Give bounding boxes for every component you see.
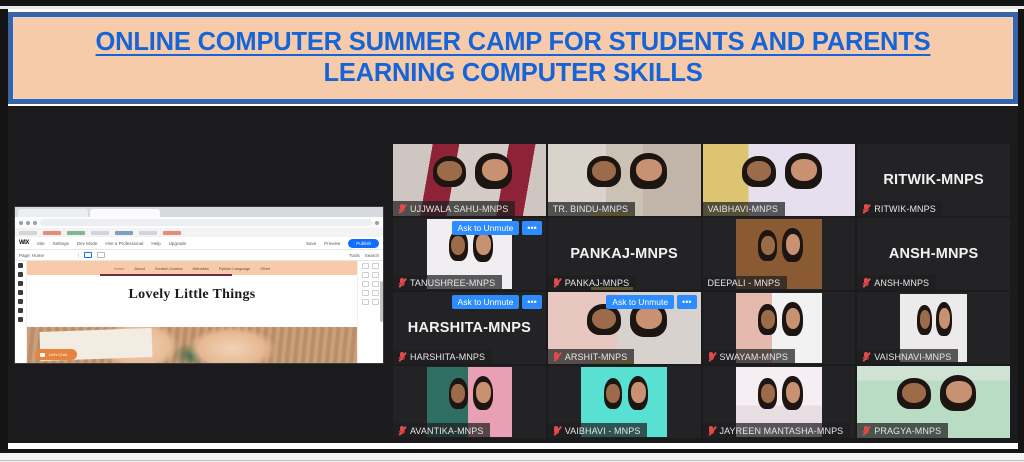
toolbar-item-help[interactable]: Help — [151, 241, 160, 246]
add-element-icon[interactable] — [18, 263, 23, 268]
zoom-meeting-screenshot: WIX Site Settings Dev Mode Hire a Profes… — [8, 106, 1018, 443]
panel-row[interactable] — [360, 299, 381, 305]
unmute-controls: Ask to Unmute••• — [452, 295, 542, 309]
person-face — [437, 161, 461, 181]
panel-row[interactable] — [360, 281, 381, 287]
toolbar-item-dev-mode[interactable]: Dev Mode — [77, 241, 98, 246]
participant-name-label: AVANTIKA-MNPS — [410, 426, 483, 436]
participant-name-label: PRAGYA-MNPS — [874, 426, 941, 436]
browser-url-bar[interactable] — [15, 217, 383, 228]
participant-grid: UJJWALA SAHU-MNPSTR. BINDU-MNPSVAIBHAVI-… — [393, 144, 1010, 438]
shared-screen-pane[interactable]: WIX Site Settings Dev Mode Hire a Profes… — [14, 206, 384, 364]
toolbar-item-site[interactable]: Site — [37, 241, 45, 246]
page-selector[interactable]: Page: Home — [19, 253, 79, 258]
participant-name-bar: ANSH-MNPS — [857, 275, 936, 290]
preview-button[interactable]: Preview — [324, 241, 340, 246]
participant-name-bar: PANKAJ-MNPS — [548, 275, 636, 290]
mobile-view-icon[interactable] — [97, 252, 105, 258]
bookmarks-bar[interactable] — [15, 228, 383, 237]
participant-name-label: PANKAJ-MNPS — [565, 278, 629, 288]
chat-icon — [40, 353, 45, 357]
participant-name-label: VAIBHAVI-MNPS — [708, 204, 778, 214]
person-face — [786, 382, 801, 403]
panel-cell[interactable] — [362, 263, 369, 269]
mic-muted-icon — [862, 277, 870, 288]
participant-tile[interactable]: UJJWALA SAHU-MNPS — [393, 144, 546, 216]
wix-editor-toolbar[interactable]: WIX Site Settings Dev Mode Hire a Profes… — [15, 237, 383, 250]
mic-muted-icon — [862, 425, 870, 436]
participant-tile[interactable]: HARSHITA-MNPSAsk to Unmute•••HARSHITA-MN… — [393, 292, 546, 364]
participant-name-bar: TR. BINDU-MNPS — [548, 202, 635, 216]
mic-muted-icon — [862, 351, 870, 362]
profile-icon[interactable] — [375, 221, 379, 225]
participant-name-bar: PRAGYA-MNPS — [857, 423, 948, 438]
panel-cell[interactable] — [372, 272, 379, 278]
site-nav-scratch-games[interactable]: Scratch Games — [155, 266, 183, 271]
person-face — [791, 159, 817, 181]
more-options-button[interactable]: ••• — [677, 295, 696, 309]
participant-tile[interactable]: TR. BINDU-MNPS — [548, 144, 701, 216]
unmute-controls: Ask to Unmute••• — [452, 221, 542, 235]
mic-muted-icon — [708, 425, 716, 436]
participant-name-label: SWAYAM-MNPS — [720, 352, 788, 362]
browser-tab-active[interactable] — [90, 209, 160, 217]
toolbar-item-hire-professional[interactable]: Hire a Professional — [105, 241, 143, 246]
person-face — [761, 310, 775, 329]
participant-name-label: TANUSHREE-MNPS — [410, 278, 495, 288]
forward-icon[interactable] — [26, 221, 30, 225]
toolbar-item-upgrade[interactable]: Upgrade — [169, 241, 186, 246]
banner-title-line-2: LEARNING COMPUTER SKILLS — [323, 59, 702, 88]
person-face — [761, 384, 775, 403]
participant-tile[interactable]: ANSH-MNPSANSH-MNPS — [857, 218, 1010, 290]
slide-left-border — [0, 9, 8, 453]
person-face — [476, 382, 491, 403]
participant-name-bar: JAYREEN MANTASHA-MNPS — [703, 423, 851, 438]
mic-muted-icon — [708, 351, 716, 362]
mic-muted-icon — [553, 351, 561, 362]
site-nav-websites[interactable]: Websites — [192, 266, 208, 271]
bookmark-item[interactable] — [163, 231, 181, 235]
participant-name-label: JAYREEN MANTASHA-MNPS — [720, 426, 844, 436]
participant-name-label: ANSH-MNPS — [874, 278, 929, 288]
participant-name-bar: TANUSHREE-MNPS — [393, 275, 502, 290]
site-nav-other[interactable]: Other — [260, 266, 270, 271]
more-options-button[interactable]: ••• — [522, 295, 541, 309]
slide-top-highlight — [0, 6, 1024, 9]
mic-muted-icon — [398, 425, 406, 436]
reload-icon[interactable] — [33, 221, 37, 225]
bookmark-item[interactable] — [19, 231, 37, 235]
mic-muted-icon — [398, 203, 406, 214]
person-face — [761, 236, 775, 255]
participant-tile[interactable]: VAIBHAVI-MNPS — [703, 144, 856, 216]
person-face — [946, 381, 972, 403]
person-face — [482, 159, 508, 181]
canvas-scrollbar[interactable] — [380, 281, 383, 322]
participant-name-bar: VAIBHAVI - MNPS — [548, 423, 648, 438]
site-navigation[interactable]: Home About Scratch Games Websites Python… — [27, 261, 357, 275]
save-button[interactable]: Save — [306, 241, 316, 246]
participant-name-label: TR. BINDU-MNPS — [553, 204, 628, 214]
more-options-button[interactable]: ••• — [522, 221, 541, 235]
site-preview-canvas[interactable]: Home About Scratch Games Websites Python… — [27, 261, 357, 363]
slide-bottom-hairline — [0, 460, 1024, 461]
bookmark-item[interactable] — [139, 231, 157, 235]
participant-name-label: UJJWALA SAHU-MNPS — [410, 204, 508, 214]
participant-name-label: RITWIK-MNPS — [874, 204, 936, 214]
mic-muted-icon — [553, 277, 561, 288]
panel-cell[interactable] — [372, 281, 379, 287]
participant-tile[interactable]: JAYREEN MANTASHA-MNPS — [703, 366, 856, 438]
toolbar-item-settings[interactable]: Settings — [53, 241, 69, 246]
participant-name-label: VAISHNAVI-MNPS — [874, 352, 951, 362]
presentation-slide: ONLINE COMPUTER SUMMER CAMP FOR STUDENTS… — [0, 0, 1024, 462]
mic-muted-icon — [398, 351, 406, 362]
ask-to-unmute-button[interactable]: Ask to Unmute — [452, 295, 520, 309]
panel-cell[interactable] — [362, 299, 369, 305]
new-tab-button[interactable] — [162, 209, 172, 217]
participant-tile[interactable]: PRAGYA-MNPS — [857, 366, 1010, 438]
tools-menu[interactable]: Tools — [349, 253, 360, 258]
panel-cell[interactable] — [372, 299, 379, 305]
panel-cell[interactable] — [362, 290, 369, 296]
participant-tile[interactable]: Ask to Unmute•••ARSHIT-MNPS — [548, 292, 701, 364]
editor-left-toolbar[interactable] — [15, 261, 27, 363]
panel-cell[interactable] — [372, 263, 379, 269]
slide-right-border — [1018, 9, 1024, 453]
bookmark-item[interactable] — [115, 231, 133, 235]
participant-name-label: HARSHITA-MNPS — [410, 352, 485, 362]
ask-to-unmute-button[interactable]: Ask to Unmute — [606, 295, 674, 309]
participant-name-label: VAIBHAVI - MNPS — [565, 426, 641, 436]
participant-tile[interactable]: VAISHNAVI-MNPS — [857, 292, 1010, 364]
unmute-controls: Ask to Unmute••• — [606, 295, 696, 309]
blog-icon[interactable] — [18, 308, 23, 313]
ask-to-unmute-button[interactable]: Ask to Unmute — [452, 221, 520, 235]
participant-name-label: ARSHIT-MNPS — [565, 352, 628, 362]
lets-chat-label: Let's Chat — [49, 352, 67, 357]
participant-tile[interactable]: PANKAJ-MNPSPANKAJ-MNPS — [548, 218, 701, 290]
bookmark-item[interactable] — [43, 231, 61, 235]
address-input[interactable] — [40, 219, 372, 226]
media-icon[interactable] — [18, 299, 23, 304]
panel-cell[interactable] — [362, 281, 369, 287]
participant-name-bar: ARSHIT-MNPS — [548, 349, 635, 364]
editor-canvas-area: Home About Scratch Games Websites Python… — [15, 261, 383, 363]
theme-icon[interactable] — [18, 281, 23, 286]
person-face — [476, 234, 491, 255]
participant-name-bar: DEEPALI - MNPS — [703, 276, 788, 290]
person-face — [636, 159, 662, 181]
participant-name-bar: VAIBHAVI-MNPS — [703, 202, 785, 216]
participant-tile[interactable]: VAIBHAVI - MNPS — [548, 366, 701, 438]
search-button[interactable]: Search — [365, 253, 379, 258]
participant-name-bar: VAISHNAVI-MNPS — [857, 349, 958, 364]
desktop-view-icon[interactable] — [84, 252, 92, 258]
panel-cell[interactable] — [362, 272, 369, 278]
participant-tile[interactable]: Ask to Unmute•••TANUSHREE-MNPS — [393, 218, 546, 290]
participant-tile[interactable]: RITWIK-MNPSRITWIK-MNPS — [857, 144, 1010, 216]
panel-row[interactable] — [360, 290, 381, 296]
browser-tab-strip[interactable] — [15, 207, 383, 217]
publish-button[interactable]: Publish — [348, 239, 379, 248]
bookmark-item[interactable] — [67, 231, 85, 235]
participant-name-label: DEEPALI - MNPS — [708, 278, 781, 288]
bookmark-item[interactable] — [91, 231, 109, 235]
site-nav-home[interactable]: Home — [114, 266, 125, 271]
apps-icon[interactable] — [18, 290, 23, 295]
site-nav-about[interactable]: About — [134, 266, 144, 271]
site-hero-title: Lovely Little Things — [27, 275, 357, 313]
participant-name-bar: UJJWALA SAHU-MNPS — [393, 201, 515, 216]
site-hero-image — [27, 327, 357, 363]
participant-tile[interactable]: AVANTIKA-MNPS — [393, 366, 546, 438]
site-nav-selection-bar — [100, 274, 232, 276]
lets-chat-button[interactable]: Let's Chat — [35, 349, 77, 360]
wix-page-bar[interactable]: Page: Home Tools Search — [15, 250, 383, 261]
participant-name-bar: SWAYAM-MNPS — [703, 349, 795, 364]
participant-name-bar: AVANTIKA-MNPS — [393, 423, 490, 438]
person-face — [786, 308, 801, 329]
title-banner: ONLINE COMPUTER SUMMER CAMP FOR STUDENTS… — [8, 12, 1018, 104]
site-nav-python-language[interactable]: Python Language — [219, 266, 250, 271]
mic-muted-icon — [862, 203, 870, 214]
mic-muted-icon — [553, 425, 561, 436]
participant-name-bar: HARSHITA-MNPS — [393, 349, 492, 364]
banner-title-line-1: ONLINE COMPUTER SUMMER CAMP FOR STUDENTS… — [96, 28, 931, 57]
settings-icon[interactable] — [18, 317, 23, 322]
person-face — [631, 382, 646, 403]
title-banner-inner: ONLINE COMPUTER SUMMER CAMP FOR STUDENTS… — [13, 17, 1013, 99]
back-icon[interactable] — [19, 221, 23, 225]
panel-row[interactable] — [360, 263, 381, 269]
participant-name-bar: RITWIK-MNPS — [857, 201, 943, 216]
mic-muted-icon — [398, 277, 406, 288]
participant-tile[interactable]: SWAYAM-MNPS — [703, 292, 856, 364]
participant-tile[interactable]: DEEPALI - MNPS — [703, 218, 856, 290]
pages-icon[interactable] — [18, 272, 23, 277]
wix-logo: WIX — [19, 240, 29, 246]
browser-tab[interactable] — [18, 209, 88, 217]
panel-row[interactable] — [360, 272, 381, 278]
person-face — [636, 307, 662, 329]
person-face — [606, 384, 620, 403]
panel-cell[interactable] — [372, 290, 379, 296]
browser-window: WIX Site Settings Dev Mode Hire a Profes… — [15, 207, 383, 363]
person-face — [786, 234, 801, 255]
